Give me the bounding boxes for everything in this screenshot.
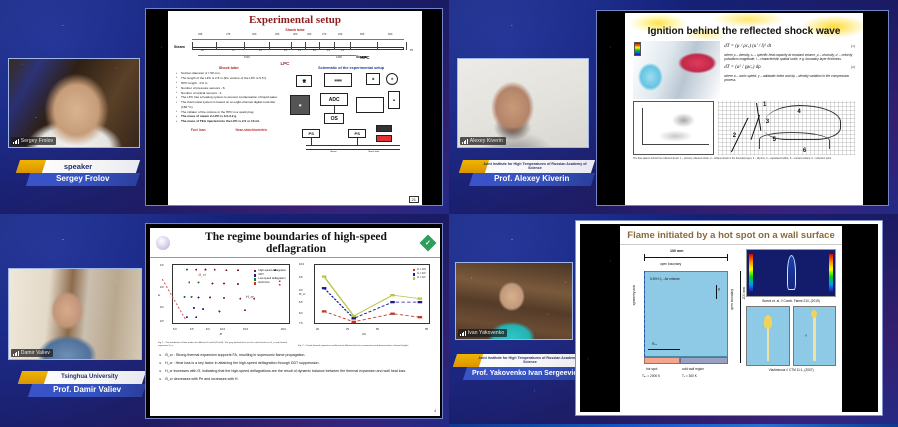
shock-tube-simulation-image (633, 41, 720, 99)
figure-2-caption: Fig. 2 - Critical thermal expansion coef… (298, 344, 432, 348)
video-feed-1 (9, 59, 139, 147)
bullet-item: H_cr increases with Θ, indicating that t… (159, 369, 431, 374)
symmetry-axis-line (644, 271, 645, 357)
domain-diagram: 100 mm open boundary 5-6% H₂ - Air mixtu… (626, 249, 740, 369)
annotation-theta-cr: Θ_cr (199, 273, 206, 277)
wave-number-label: 2 (733, 133, 736, 139)
bullet-item: The length of the LPC is 2.8 m (the volu… (176, 76, 282, 80)
bullet-item: Number of optical sensors - 3. (176, 91, 282, 95)
equation-2: dT = (a² / γρcᵥ) dρ (724, 64, 760, 72)
hot-spot-region (644, 357, 680, 364)
legend-item: Extinction (258, 281, 269, 285)
width-dimension-label: 100 mm (670, 249, 683, 253)
dim-label: 295 (198, 33, 202, 36)
x-tick: 6.0 (173, 328, 177, 331)
lower-dimension-line (198, 55, 356, 56)
participant-name-chip-3: Damir Valiev (11, 349, 53, 357)
video-conference-grid: Sergey Frolov speaker Sergey Frolov Expe… (0, 0, 898, 427)
pump-icon: ⚙ (366, 73, 380, 85)
computer-icon: 🖥 (296, 75, 312, 87)
y-tick: 8.0 (299, 312, 303, 315)
sensor-label: P4 (298, 49, 301, 52)
footer-label-left: Fuel lean (191, 128, 206, 132)
lower-third-name-4: Prof. Yakovenko Ivan Sergeevich (472, 370, 582, 377)
bullet-item: Θ_cr : Strong thermal expansion supports… (159, 353, 431, 358)
sg-box (376, 125, 392, 132)
x-axis-label: Θ (220, 332, 222, 336)
slide-hot-spot: Flame initiated by a hot spot on a wall … (620, 226, 842, 412)
shared-screen-3[interactable]: The regime boundaries of high-speed defl… (145, 223, 443, 419)
colorbar-icon (634, 42, 641, 56)
top-boundary-label: open boundary (660, 262, 681, 266)
equation-1-row: dT = (μ / ρcᵥ) (u' / l)² dt (1) (724, 43, 855, 51)
control-panel-icon: ▤▤▤ (324, 73, 352, 87)
sensor-label: P5 (410, 49, 413, 52)
lower-third-name-1: Sergey Frolov (56, 175, 109, 183)
slide-title: The regime boundaries of high-speed defl… (175, 231, 417, 255)
video-tile-1[interactable]: Sergey Frolov (8, 58, 140, 148)
wave-number-label: 3 (766, 119, 769, 125)
chart-legend-2: H = 10² H = 10³ H = 10⁴ (413, 268, 426, 280)
xt-plot (633, 101, 714, 155)
sensor-label: P1 (341, 49, 344, 52)
lower-third-org-2: Joint Institute for High Temperatures of… (461, 163, 593, 171)
chart-legend: High-speed deflagration DDT Low-speed de… (254, 269, 286, 286)
chart-regime-map: High-speed deflagration DDT Low-speed de… (158, 262, 292, 336)
sensor-label: P3 (313, 49, 316, 52)
video-tile-3[interactable]: Damir Valiev (8, 268, 142, 360)
slide-page-number: 21 (409, 196, 419, 203)
slide-title: Ignition behind the reflected shock wave (625, 13, 863, 37)
x-axis-label: Pe (362, 332, 366, 336)
equation-2-number: (2) (851, 65, 855, 70)
annotation-h-cr: H_cr (246, 295, 254, 299)
dim-label: 600 (388, 33, 392, 36)
sensor-label: P2 (327, 49, 330, 52)
lower-third-name-row-2: Prof. Alexey Kiverin (469, 173, 595, 186)
dim-label: 320 (252, 33, 256, 36)
bullet-item: The mass of TEA injected into the LPC is… (176, 119, 282, 123)
gas-cylinder-icon: ■ (388, 91, 400, 109)
bullet-item: Θ_cr decreases with Pe and increases wit… (159, 377, 431, 382)
shock-tube-diagram: 295 475 320 260 300 300 270 260 605 600 … (174, 33, 416, 65)
os-box: OS (324, 113, 344, 124)
lower-third-org-row-2: Joint Institute for High Temperatures of… (459, 160, 595, 173)
equation-1: dT = (μ / ρcᵥ) (u' / l)² dt (724, 43, 771, 51)
citation-bottom: Vladimirova // CTM 11:1, (2007) (746, 368, 836, 372)
citation-top: Boeck et. al. // Comb. Flame 210, (2019) (746, 299, 836, 303)
participant-panel-3[interactable]: Damir Valiev Tsinghua University Prof. D… (0, 214, 449, 427)
vessel-box (356, 97, 384, 113)
university-seal-icon (156, 236, 170, 250)
slide-ignition: Ignition behind the reflected shock wave… (625, 13, 863, 205)
slide-experimental-setup: Experimental setup Shock tube 295 475 32… (168, 11, 422, 205)
x-tick: 55 (425, 328, 428, 331)
y-tick: 7.5 (299, 322, 303, 325)
dim-label: 1520 (244, 56, 250, 59)
bullet-item: The mass of steam in LPC is 3.0-3.2 g. (176, 114, 282, 118)
x-tick: 20.0 (281, 328, 286, 331)
accent-swatch-icon (16, 160, 46, 173)
dim-label: 300 (307, 33, 311, 36)
dim-label: 1300 (336, 56, 342, 59)
sensor-label: P7 (232, 49, 235, 52)
wave-number-label: 4 (797, 109, 800, 115)
y-tick: 10³ (160, 264, 164, 267)
bullet-item: The initiator of the mixture in the HPC … (176, 110, 282, 114)
equation-2-row: dT = (a² / γρcᵥ) dρ (2) (724, 64, 855, 72)
bullet-item: The thermostat system is based on an eig… (176, 100, 282, 109)
sensor-label: P8 (201, 49, 204, 52)
sensor-label: P5 (284, 49, 287, 52)
hot-spot-label: hot spot (646, 367, 657, 371)
reference-images-column: Boeck et. al. // Comb. Flame 210, (2019)… (746, 249, 836, 372)
lower-third-2: Joint Institute for High Temperatures of… (461, 160, 593, 186)
flame-image-left (746, 306, 789, 366)
x-tick: 10.0 (220, 328, 225, 331)
lower-third-org-row-4: Joint Institute for High Temperatures of… (453, 354, 591, 367)
dim-label: 475 (226, 33, 230, 36)
hot-spot-temperature: Tₕₛ = 2000 K (642, 374, 660, 378)
signal-bars-icon (460, 331, 466, 336)
dim-label: 270 (322, 33, 326, 36)
y-tick: 10.0 (299, 263, 304, 266)
equation-1-legend: where ρ – density, cᵥ – specific heat ca… (724, 53, 855, 63)
diagram-bottom-label: Steam (330, 151, 336, 153)
y-tick: 10¹ (160, 306, 164, 309)
signal-bars-icon (13, 139, 19, 144)
bullet-item: Number of pressure sensors - 8. (176, 86, 282, 90)
equation-2-legend: where a – sonic speed, γ – adiabatic ind… (724, 74, 855, 84)
legend-item: H = 10⁴ (417, 276, 426, 280)
lower-third-role-1: speaker (64, 163, 92, 171)
video-feed-2 (458, 59, 588, 147)
slide-title: Flame initiated by a hot spot on a wall … (620, 226, 842, 245)
x-tick: 20 (316, 328, 319, 331)
figure-1-caption: Fig. 1 - The distribution of flow modes … (158, 341, 292, 348)
figure-caption: The flow pattern behind the reflected sh… (625, 157, 863, 160)
equations-column: dT = (μ / ρcᵥ) (u' / l)² dt (1) where ρ … (724, 41, 855, 99)
slide-bullet-column: Shock tube: Section diameter d = 50 mm. … (176, 66, 282, 155)
lower-third-name-row-4: Prof. Yakovenko Ivan Sergeevich (463, 367, 591, 380)
diagram-caption: Shock tube (168, 28, 422, 32)
dim-label: 605 (360, 33, 364, 36)
y-tick: 8.5 (299, 301, 303, 304)
flame-image-right: g (793, 306, 836, 366)
participant-name-chip-1: Sergey Frolov (11, 137, 56, 145)
x-tick: 6.5 (190, 328, 194, 331)
chart-critical-expansion: H = 10² H = 10³ H = 10⁴ 10.0 9.5 9.0 8.5… (298, 262, 432, 336)
video-feed-4 (456, 263, 572, 339)
video-tile-4[interactable]: Ivan Yakovenko (455, 262, 573, 340)
footer-label-right: Near-stoichiometric (235, 128, 267, 132)
video-tile-2[interactable]: Alexey Kiverin (457, 58, 589, 148)
symmetry-axis-label: symmetry axis (632, 285, 636, 305)
sensor-label: P6 (259, 49, 262, 52)
dim-label: 260 (275, 33, 279, 36)
cold-wall-label: cold wall region (682, 367, 704, 371)
hot-spot-radius-label: Rₕₛ (652, 342, 657, 346)
schlieren-flow-pattern: 1 2 3 4 5 6 (718, 101, 855, 155)
mixture-label: 5-6% H₂ - Air mixture (650, 277, 680, 281)
y-tick: 10² (160, 286, 164, 289)
gauge-icon: ⏱ (386, 73, 398, 85)
ss-box (376, 135, 392, 142)
x-tick: 8.0 (206, 328, 210, 331)
participant-name-chip-2: Alexey Kiverin (460, 137, 506, 145)
bullet-item: H_cr : Heat loss is a key factor in atta… (159, 361, 431, 366)
signal-bars-icon (462, 139, 468, 144)
bullet-item: HPC length - 0.6 m. (176, 81, 282, 85)
gravity-arrow-label: g (718, 287, 720, 291)
lower-third-org-row-3: Tsinghua University (18, 371, 146, 384)
y-tick: 10⁰ (160, 320, 164, 323)
diagram-bottom-label: Shock tube (368, 151, 379, 153)
lower-third-org-4: Joint Institute for High Temperatures of… (455, 357, 589, 365)
bullet-item: Section diameter d = 50 mm. (176, 71, 282, 75)
participant-panel-1[interactable]: Sergey Frolov speaker Sergey Frolov Expe… (0, 0, 449, 214)
shared-screen-2[interactable]: Ignition behind the reflected shock wave… (596, 10, 889, 206)
participant-name-chip-4: Ivan Yakovenko (458, 329, 507, 337)
accent-swatch-icon (18, 371, 48, 384)
lower-third-3: Tsinghua University Prof. Damir Valiev (20, 371, 144, 397)
lower-third-role-row-1: speaker (16, 160, 140, 173)
dim-label: 260 (338, 33, 342, 36)
bullet-heading: Shock tube: (176, 66, 282, 70)
x-tick: 50 (376, 328, 379, 331)
equation-1-number: (1) (851, 44, 855, 49)
cold-wall-region (680, 357, 728, 364)
x-tick: 15.0 (243, 328, 248, 331)
lower-third-name-row-1: Sergey Frolov (26, 173, 140, 186)
name-chip-text: Ivan Yakovenko (468, 330, 505, 336)
x-tick: 25 (346, 328, 349, 331)
lower-third-org-3: Tsinghua University (47, 374, 118, 380)
slide-dots-decor: ······ (172, 199, 192, 204)
y-axis-label: Θ_cr (299, 292, 306, 296)
schematic-column: Schematic of the experimental setup 🖥 ▤▤… (286, 66, 416, 155)
slide-title: Experimental setup (168, 14, 422, 26)
ps-box-right: PS (348, 129, 366, 138)
adc-box: ADC (320, 93, 348, 106)
lower-third-name-2: Prof. Alexey Kiverin (494, 175, 569, 183)
wave-number-label: 5 (773, 137, 776, 143)
name-chip-text: Damir Valiev (21, 350, 50, 356)
wave-number-label: 6 (803, 148, 806, 154)
participant-panel-2[interactable]: Alexey Kiverin Joint Institute for High … (449, 0, 898, 214)
annotation-g: g (805, 333, 807, 337)
dim-label: 300 (293, 33, 297, 36)
y-axis-label: H (158, 293, 160, 297)
ps-box-left: PS (302, 129, 320, 138)
schematic-title: Schematic of the experimental setup (286, 66, 416, 70)
schematic-diagram: 🖥 ▤▤▤ ⚙ ⏱ ■ ▦ ADC OS PS PS (286, 71, 416, 155)
lower-third-4: Joint Institute for High Temperatures of… (455, 354, 589, 380)
slide-page-number: 4 (434, 409, 436, 413)
right-boundary-label: open boundary (730, 289, 734, 310)
tube-label-hpc: HPC (360, 55, 369, 60)
cold-wall-temperature: Tᵥ = 300 K (682, 374, 697, 378)
y-tick: 9.5 (299, 276, 303, 279)
lower-third-1: speaker Sergey Frolov (18, 160, 138, 186)
lower-third-name-3: Prof. Damir Valiev (53, 386, 121, 394)
keypad-icon: ▦ (290, 95, 310, 115)
participant-panel-4[interactable]: Ivan Yakovenko Joint Institute for High … (449, 214, 898, 427)
name-chip-text: Alexey Kiverin (470, 138, 503, 144)
bullet-item: The LPC has a heating system to prevent … (176, 95, 282, 99)
signal-bars-icon (13, 351, 19, 356)
name-chip-text: Sergey Frolov (21, 138, 53, 144)
shared-screen-1[interactable]: Experimental setup Shock tube 295 475 32… (145, 8, 443, 206)
lower-third-name-row-3: Prof. Damir Valiev (28, 384, 146, 397)
dimension-line (192, 39, 404, 40)
shared-screen-4[interactable]: Flame initiated by a hot spot on a wall … (575, 220, 883, 416)
slide-regime-boundaries: The regime boundaries of high-speed defl… (150, 228, 440, 416)
tube-label-steam-left: Steam (174, 45, 185, 49)
video-feed-3 (9, 269, 141, 359)
wave-number-label: 1 (763, 102, 766, 108)
simulation-snapshot (746, 249, 836, 297)
green-diamond-icon: ✓ (420, 235, 437, 252)
